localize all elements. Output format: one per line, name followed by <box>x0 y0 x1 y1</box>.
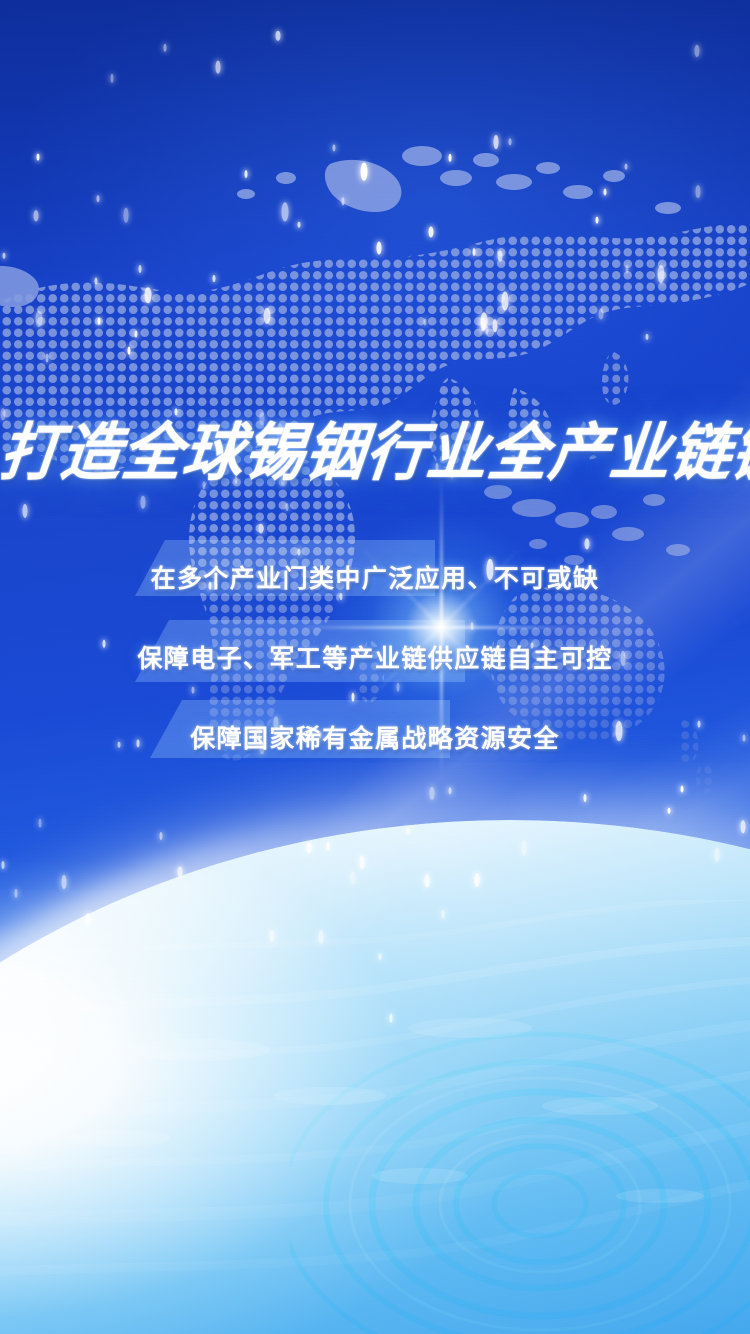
headline-text: 打造全球锡铟行业全产业链链主 <box>0 417 750 490</box>
subtitle-line-1: 在多个产业门类中广泛应用、不可或缺 <box>0 562 750 596</box>
poster-canvas: 打造全球锡铟行业全产业链链主 在多个产业门类中广泛应用、不可或缺 保障电子、军工… <box>0 0 750 1334</box>
subtitle-line-2: 保障电子、军工等产业链供应链自主可控 <box>0 642 750 676</box>
light-burst <box>441 627 442 628</box>
poster-headline: 打造全球锡铟行业全产业链链主 <box>0 418 750 488</box>
subtitle-line-3: 保障国家稀有金属战略资源安全 <box>0 722 750 756</box>
burst-core <box>326 512 556 742</box>
storm-ripple <box>290 1014 750 1334</box>
